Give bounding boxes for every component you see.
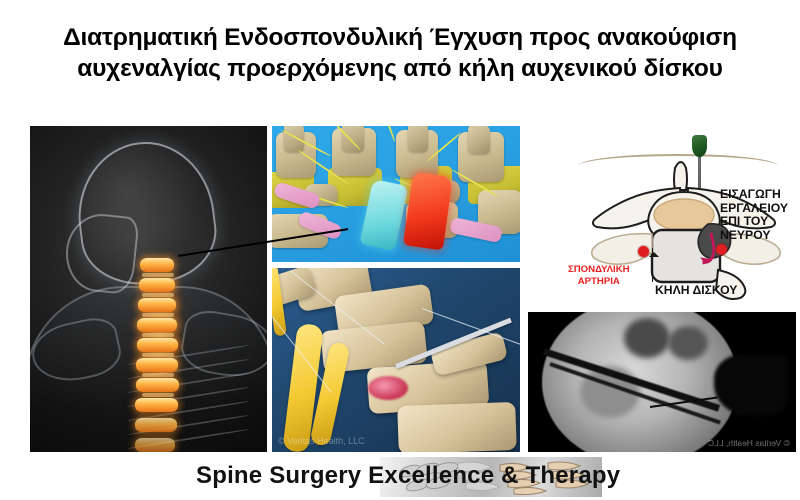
vertebra-shadow-2: [668, 326, 708, 360]
instrument-hub-shadow: [714, 354, 788, 416]
vertebral-artery-left-dot: [638, 246, 649, 257]
vertebral-artery-right-dot: [716, 244, 727, 255]
label-vertebral-artery: ΣΠΟΝΔΥΛΙΚΗ ΑΡΤΗΡΙΑ: [568, 264, 630, 287]
logo-text: Spine Surgery Excellence & Therapy: [196, 462, 616, 490]
vertebra-shadow-1: [624, 318, 670, 358]
fluoroscopy-image: © Veritas Health, LLC: [528, 312, 796, 452]
inflamed-tissue: [368, 376, 408, 400]
watermark-veritas-mirrored: © Veritas Health, LLC: [708, 438, 790, 448]
axial-vertebra-schematic: ΕΙΣΑΓΩΓΗ ΕΡΓΑΛΕΙΟΥ ΕΠΙ ΤΟΥ ΝΕΥΡΟΥ ΣΠΟΝΔΥ…: [560, 130, 800, 310]
watermark-veritas: © Veritas Health, LLC: [278, 436, 365, 446]
cervical-spine-xray-image: [30, 126, 267, 452]
title-line-2: αυχεναλγίας προερχόμενης από κήλη αυχενι…: [0, 53, 800, 84]
label-disc-herniation: ΚΗΛΗ ΔΙΣΚΟΥ: [655, 284, 737, 298]
label-instrument-insertion: ΕΙΣΑΓΩΓΗ ΕΡΓΑΛΕΙΟΥ ΕΠΙ ΤΟΥ ΝΕΥΡΟΥ: [720, 188, 788, 242]
page-title: Διατρηματική Ενδοσπονδυλική Έγχυση προς …: [0, 22, 800, 84]
herniation-pointer-arrow: [652, 248, 653, 282]
slide-root: Διατρηματική Ενδοσπονδυλική Έγχυση προς …: [0, 0, 800, 500]
cervical-nerve-roots-image: [272, 126, 520, 262]
jaw-outline: [62, 211, 140, 296]
title-line-1: Διατρηματική Ενδοσπονδυλική Έγχυση προς …: [0, 22, 800, 53]
instrument-insertion-image: © Veritas Health, LLC: [272, 268, 520, 452]
